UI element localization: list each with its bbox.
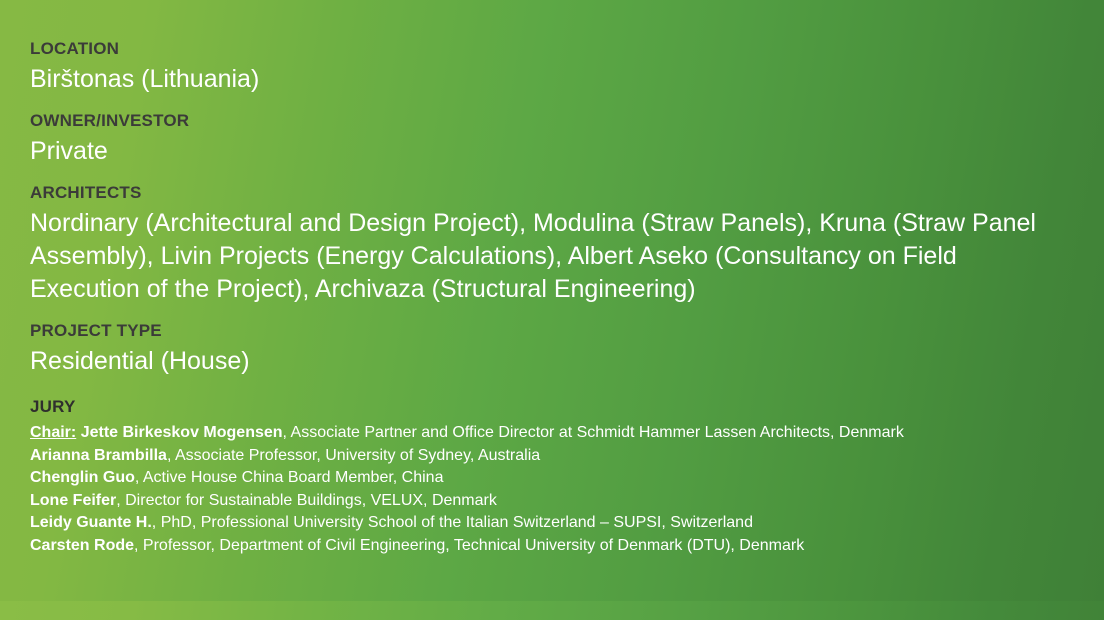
section-body-owner-investor: Private [30, 135, 1084, 168]
jury-member-list: Chair: Jette Birkeskov Mogensen, Associa… [30, 422, 1084, 557]
jury-member-item: Chenglin Guo, Active House China Board M… [30, 467, 1084, 490]
jury-member-role: , Associate Partner and Office Director … [283, 424, 904, 441]
jury-chair-label: Chair: [30, 424, 76, 441]
jury-member-item: Chair: Jette Birkeskov Mogensen, Associa… [30, 422, 1084, 445]
section-heading-location: LOCATION [30, 38, 1084, 60]
section-architects: ARCHITECTS Nordinary (Architectural and … [30, 182, 1084, 306]
jury-member-item: Lone Feifer, Director for Sustainable Bu… [30, 490, 1084, 513]
jury-member-role: , Active House China Board Member, China [135, 469, 444, 486]
section-body-location: Birštonas (Lithuania) [30, 63, 1084, 96]
jury-member-name: Carsten Rode [30, 537, 134, 554]
section-heading-architects: ARCHITECTS [30, 182, 1084, 204]
section-heading-jury: JURY [30, 396, 1084, 418]
jury-member-item: Leidy Guante H., PhD, Professional Unive… [30, 512, 1084, 535]
section-jury: JURY Chair: Jette Birkeskov Mogensen, As… [30, 396, 1084, 557]
jury-member-role: , Professor, Department of Civil Enginee… [134, 537, 804, 554]
section-owner-investor: OWNER/INVESTOR Private [30, 110, 1084, 168]
jury-member-role: , Director for Sustainable Buildings, VE… [116, 492, 497, 509]
bottom-accent-strip [0, 601, 1104, 620]
project-info-slide: LOCATION Birštonas (Lithuania) OWNER/INV… [0, 0, 1104, 620]
jury-member-item: Carsten Rode, Professor, Department of C… [30, 535, 1084, 558]
jury-member-item: Arianna Brambilla, Associate Professor, … [30, 445, 1084, 468]
jury-member-role: , PhD, Professional University School of… [152, 514, 753, 531]
section-heading-project-type: PROJECT TYPE [30, 320, 1084, 342]
jury-member-role: , Associate Professor, University of Syd… [167, 447, 540, 464]
jury-member-name: Jette Birkeskov Mogensen [81, 424, 283, 441]
section-location: LOCATION Birštonas (Lithuania) [30, 38, 1084, 96]
section-body-architects: Nordinary (Architectural and Design Proj… [30, 207, 1050, 306]
jury-member-name: Leidy Guante H. [30, 514, 152, 531]
jury-member-name: Arianna Brambilla [30, 447, 167, 464]
section-body-project-type: Residential (House) [30, 345, 1084, 378]
section-heading-owner-investor: OWNER/INVESTOR [30, 110, 1084, 132]
section-project-type: PROJECT TYPE Residential (House) [30, 320, 1084, 378]
jury-member-name: Chenglin Guo [30, 469, 135, 486]
slide-content: LOCATION Birštonas (Lithuania) OWNER/INV… [30, 38, 1084, 557]
jury-member-name: Lone Feifer [30, 492, 116, 509]
